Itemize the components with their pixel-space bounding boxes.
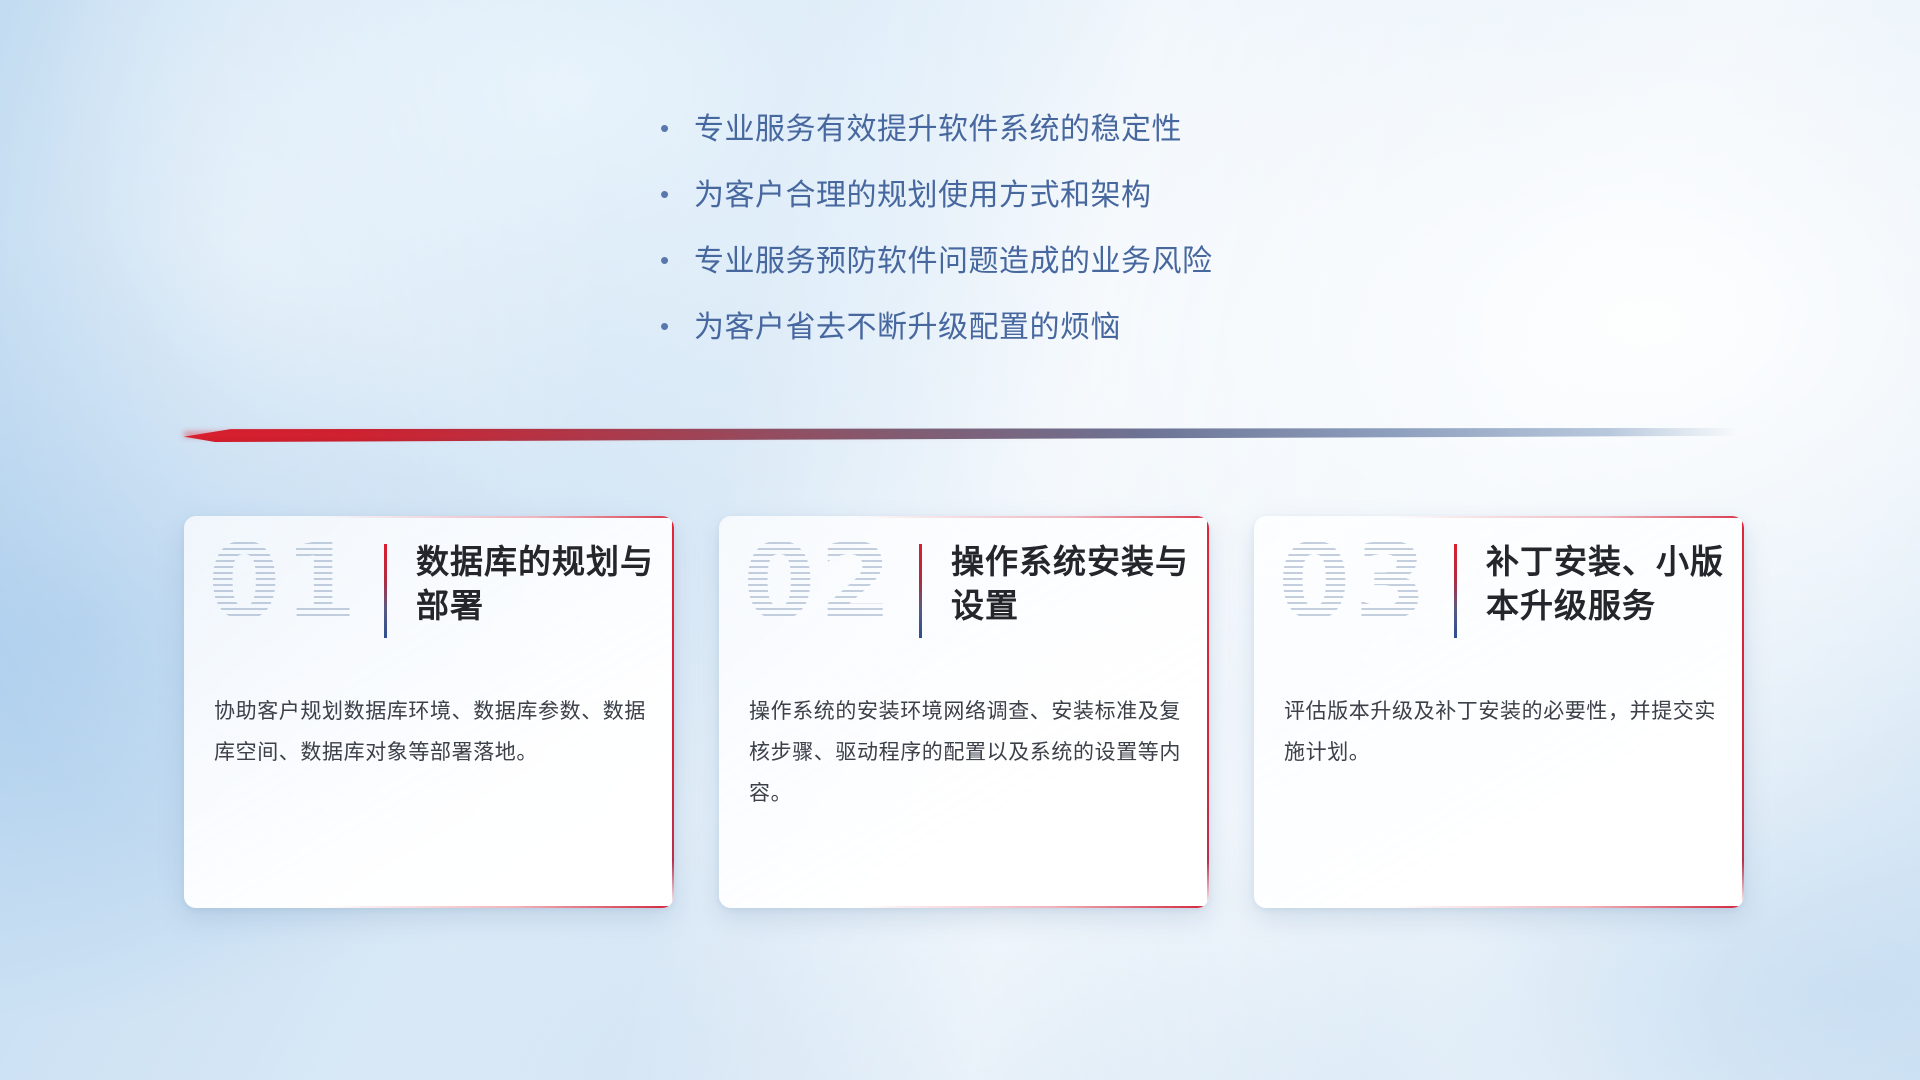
bullet-marker-icon: • — [660, 310, 694, 343]
card-header: 01 数据库的规划与部署 — [184, 516, 674, 668]
bullet-marker-icon: • — [660, 244, 694, 277]
bullet-text: 专业服务预防软件问题造成的业务风险 — [694, 244, 1420, 280]
card-title-accent-bar — [384, 544, 387, 638]
card-number-watermark: 02 — [743, 530, 896, 634]
card-body-text: 评估版本升级及补丁安装的必要性，并提交实施计划。 — [1284, 692, 1718, 774]
card-header: 02 操作系统安装与设置 — [719, 516, 1209, 668]
list-item: • 为客户省去不断升级配置的烦恼 — [660, 310, 1420, 346]
card-number-watermark: 03 — [1278, 530, 1431, 634]
card-title: 补丁安装、小版本升级服务 — [1486, 540, 1724, 628]
card-title-accent-bar — [1454, 544, 1457, 638]
bullet-marker-icon: • — [660, 178, 694, 211]
divider-glow — [184, 432, 1146, 437]
bullet-text: 专业服务有效提升软件系统的稳定性 — [694, 112, 1420, 148]
card-bottom-accent — [719, 906, 1209, 909]
service-card-02[interactable]: 02 操作系统安装与设置 操作系统的安装环境网络调查、安装标准及复核步骤、驱动程… — [719, 516, 1209, 908]
card-bottom-accent — [184, 906, 674, 909]
list-item: • 专业服务有效提升软件系统的稳定性 — [660, 112, 1420, 148]
bullet-list: • 专业服务有效提升软件系统的稳定性 • 为客户合理的规划使用方式和架构 • 专… — [660, 112, 1420, 376]
card-number-watermark: 01 — [208, 530, 361, 634]
bullet-text: 为客户省去不断升级配置的烦恼 — [694, 310, 1420, 346]
card-title: 数据库的规划与部署 — [416, 540, 654, 628]
card-header: 03 补丁安装、小版本升级服务 — [1254, 516, 1744, 668]
card-title-accent-bar — [919, 544, 922, 638]
bullet-marker-icon: • — [660, 112, 694, 145]
list-item: • 专业服务预防软件问题造成的业务风险 — [660, 244, 1420, 280]
list-item: • 为客户合理的规划使用方式和架构 — [660, 178, 1420, 214]
bullet-text: 为客户合理的规划使用方式和架构 — [694, 178, 1420, 214]
card-grid: 01 数据库的规划与部署 协助客户规划数据库环境、数据库参数、数据库空间、数据库… — [184, 516, 1744, 916]
service-card-01[interactable]: 01 数据库的规划与部署 协助客户规划数据库环境、数据库参数、数据库空间、数据库… — [184, 516, 674, 908]
card-body-text: 操作系统的安装环境网络调查、安装标准及复核步骤、驱动程序的配置以及系统的设置等内… — [749, 692, 1183, 815]
service-card-03[interactable]: 03 补丁安装、小版本升级服务 评估版本升级及补丁安装的必要性，并提交实施计划。 — [1254, 516, 1744, 908]
card-body-text: 协助客户规划数据库环境、数据库参数、数据库空间、数据库对象等部署落地。 — [214, 692, 648, 774]
card-bottom-accent — [1254, 906, 1744, 909]
card-title: 操作系统安装与设置 — [951, 540, 1189, 628]
section-divider — [184, 428, 1736, 442]
